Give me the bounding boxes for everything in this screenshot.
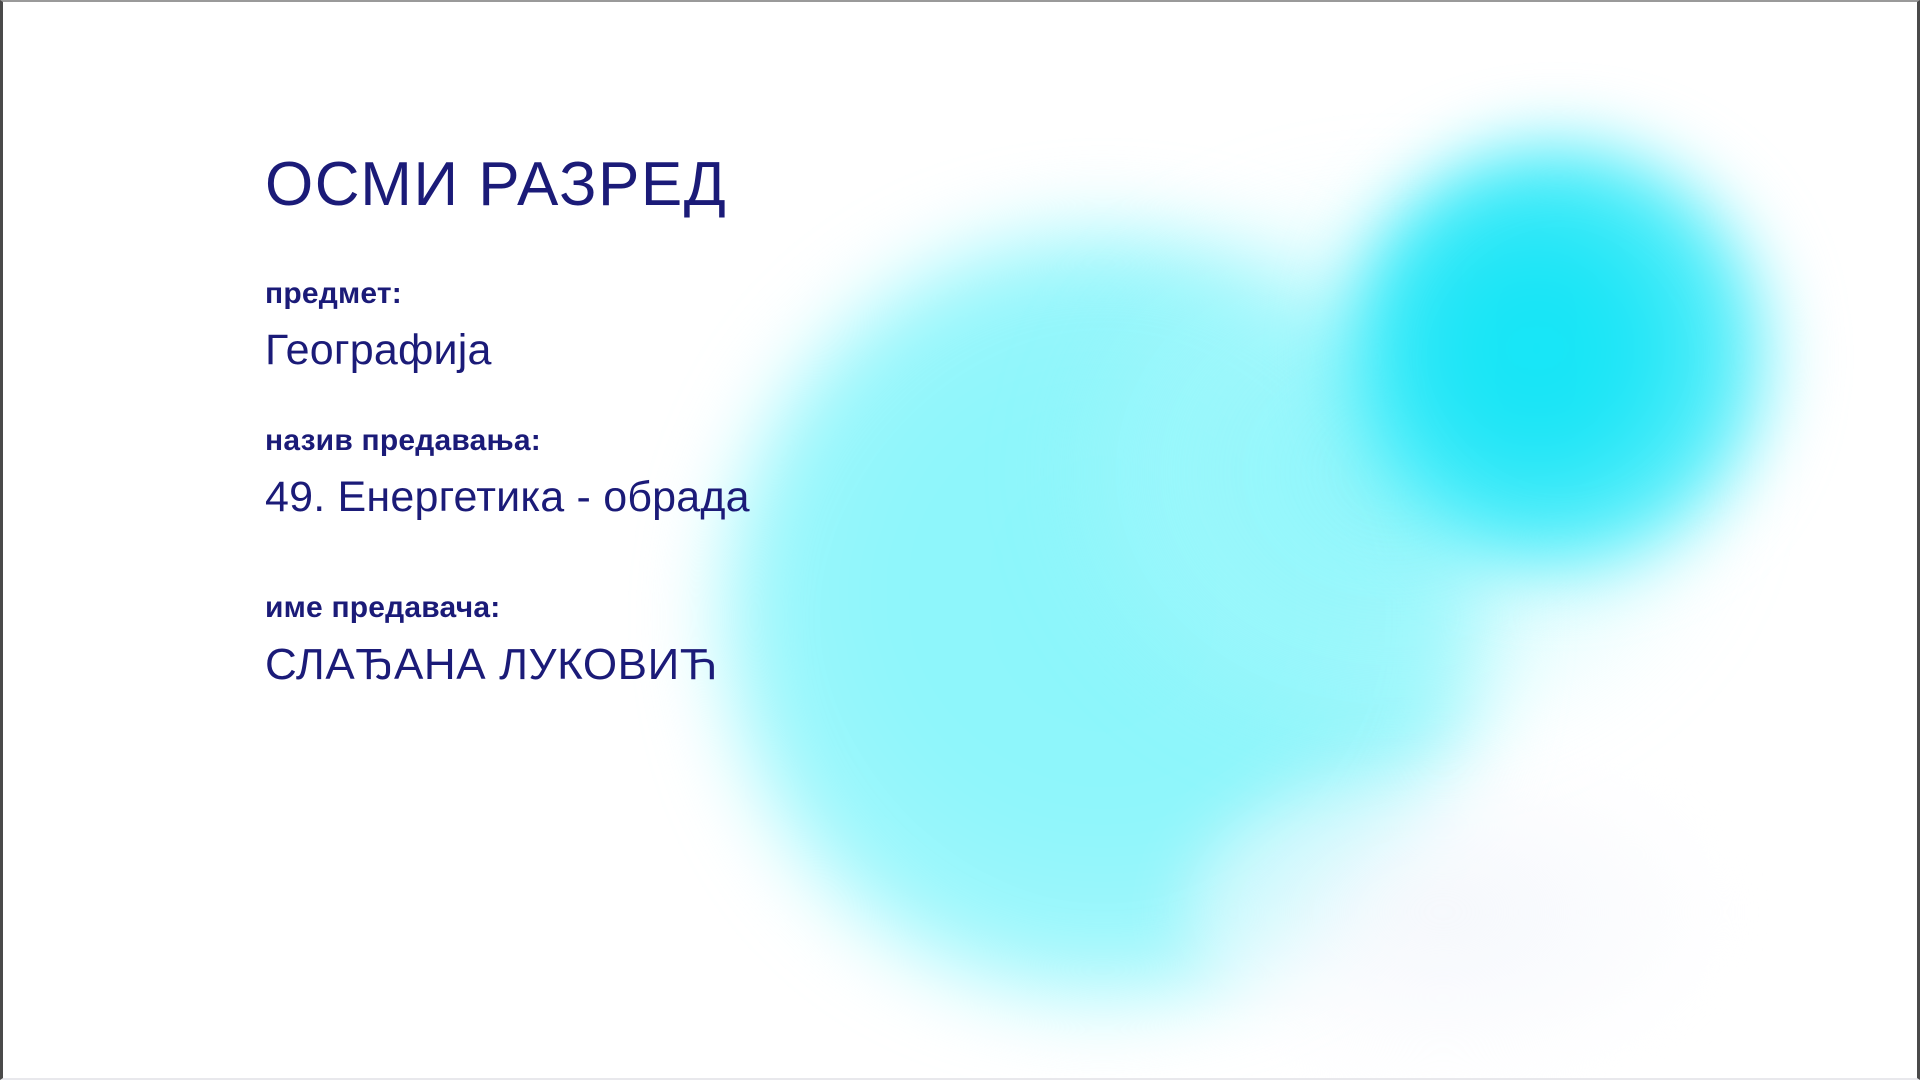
subject-label: предмет: (265, 275, 750, 313)
teacher-value: СЛАЂАНА ЛУКОВИЋ (265, 639, 750, 692)
field-subject: предмет: Географија (265, 275, 750, 376)
grey-wash-blob-icon (1183, 762, 1703, 1062)
lesson-title-label: назив предавања: (265, 422, 750, 460)
cyan-blob-bright-icon (1343, 142, 1773, 572)
subject-value: Географија (265, 325, 750, 377)
page-title: ОСМИ РАЗРЕД (265, 152, 750, 217)
slide-content: ОСМИ РАЗРЕД предмет: Географија назив пр… (265, 152, 750, 692)
cyan-blob-halo-icon (1083, 212, 1703, 732)
lesson-title-value: 49. Енергетика - обрада (265, 472, 750, 524)
cyan-blob-large-icon (723, 232, 1483, 1002)
lesson-title-slide: ОСМИ РАЗРЕД предмет: Географија назив пр… (0, 0, 1920, 1080)
teacher-label: име предавача: (265, 589, 750, 627)
field-lesson-title: назив предавања: 49. Енергетика - обрада (265, 422, 750, 523)
field-teacher: име предавача: СЛАЂАНА ЛУКОВИЋ (265, 589, 750, 691)
